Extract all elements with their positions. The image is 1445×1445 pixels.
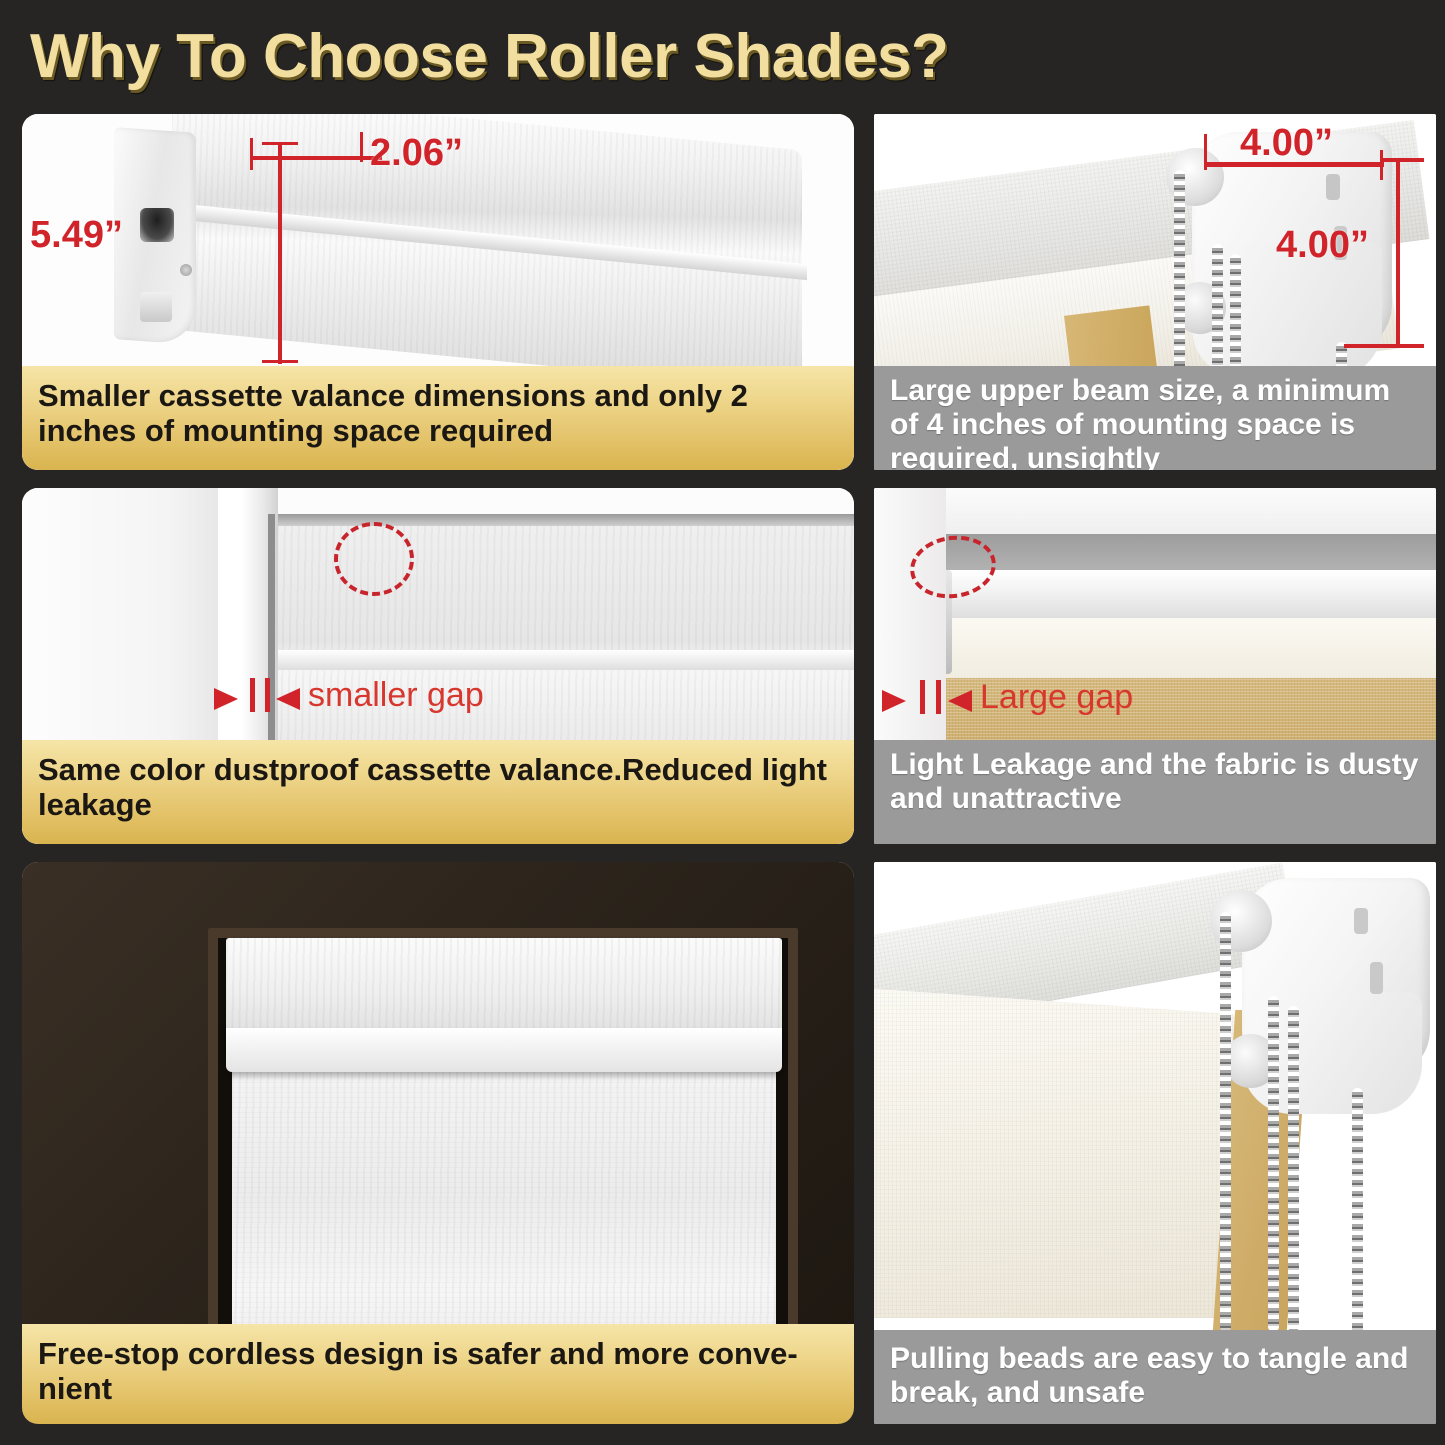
arrow-right-icon: [882, 690, 906, 712]
caption-line-2: nient: [38, 1371, 112, 1406]
arrow-right-icon: [214, 688, 238, 710]
bead-chain-icon: [1288, 1006, 1299, 1332]
caption-good-cassette-valance: Smaller cassette valance dimensions and …: [22, 366, 854, 470]
panel-good-cordless-design: Free-stop cordless design is safer and m…: [22, 862, 854, 1424]
caption-bad-light-leakage: Light Leakage and the fabric is dusty an…: [874, 740, 1436, 844]
caption-good-cordless-design: Free-stop cordless design is safer and m…: [22, 1324, 854, 1424]
panel-good-cassette-valance: 2.06” 5.49” Smaller cassette valance dim…: [22, 114, 854, 470]
knob-icon: [140, 292, 172, 322]
arrow-left-icon: [276, 688, 300, 710]
valance-slot-icon: [140, 208, 174, 242]
bead-chain-icon: [1352, 1088, 1363, 1334]
comparison-grid: 2.06” 5.49” Smaller cassette valance dim…: [0, 0, 1445, 1445]
screw-icon: [180, 264, 192, 276]
caption-bad-pulling-beads: Pulling beads are easy to tangle and bre…: [874, 1330, 1436, 1424]
panel-bad-pulling-beads: Pulling beads are easy to tangle and bre…: [874, 862, 1436, 1424]
panel-bad-upper-beam: 4.00” 4.00” Large upper beam size, a min…: [874, 114, 1436, 470]
caption-good-dustproof-valance: Same color dustproof cassette valance.Re…: [22, 740, 854, 844]
bead-chain-icon: [1220, 912, 1231, 1332]
highlight-circle-icon: [334, 522, 414, 596]
bead-chain-icon: [1268, 996, 1279, 1332]
caption-line-1: Free-stop cordless design is safer and m…: [38, 1336, 798, 1371]
caption-bad-upper-beam: Large upper beam size, a minimum of 4 in…: [874, 366, 1436, 470]
panel-bad-light-leakage: Large gap Light Leakage and the fabric i…: [874, 488, 1436, 844]
arrow-left-icon: [948, 690, 972, 712]
panel-good-dustproof-valance: smaller gap Same color dustproof cassett…: [22, 488, 854, 844]
